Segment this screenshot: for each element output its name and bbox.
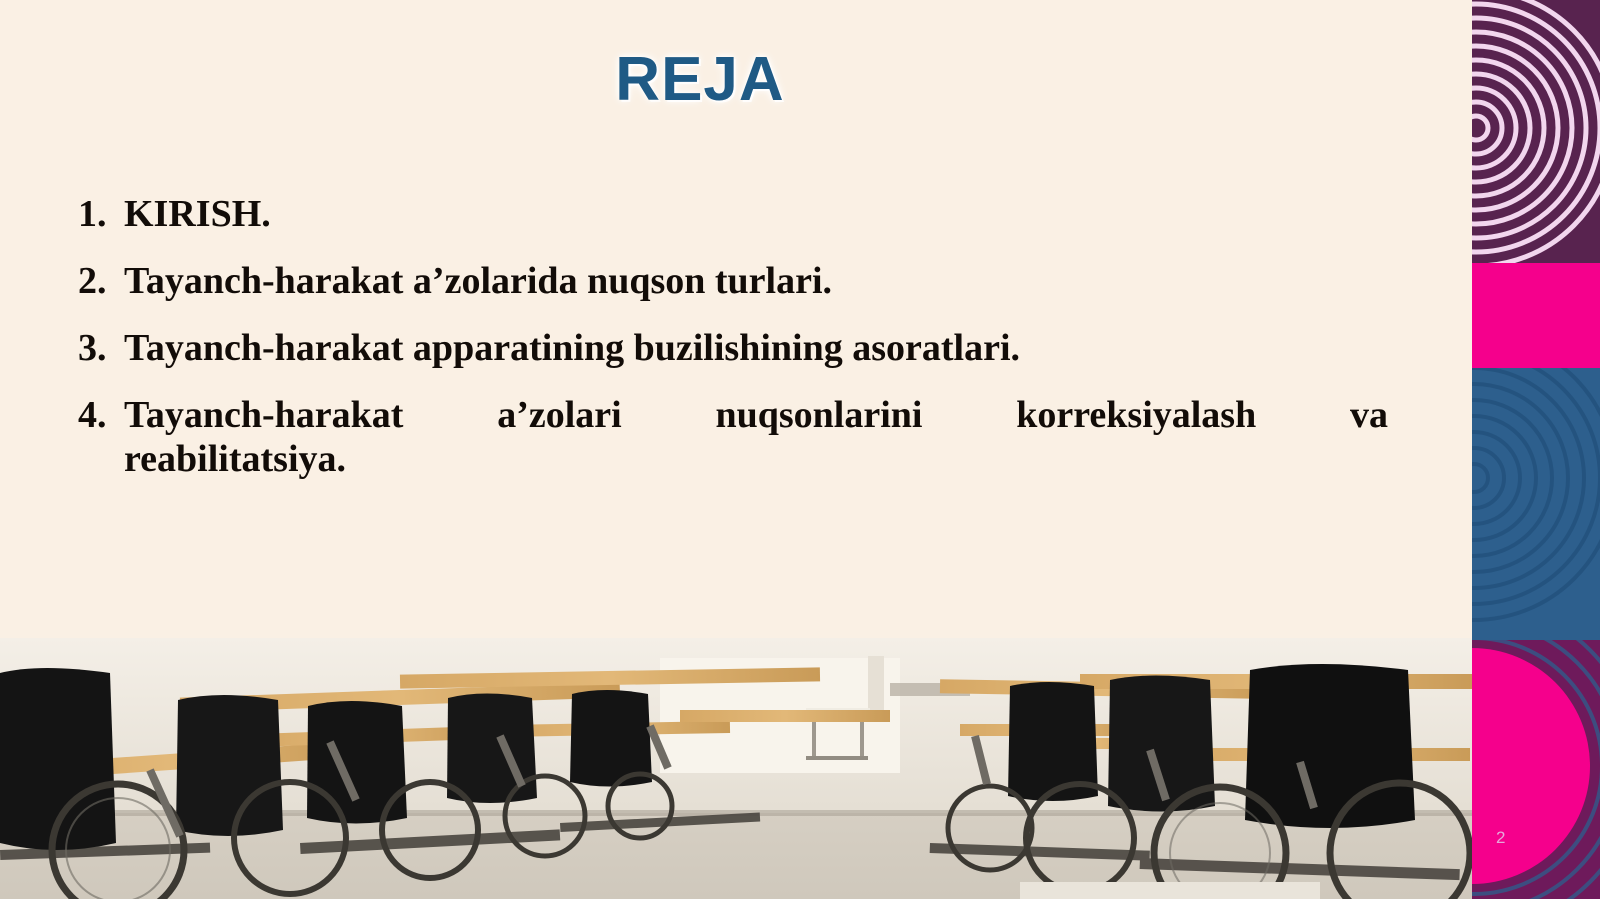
list-item: 2. Tayanch-harakat a’zolarida nuqson tur… [78, 259, 1388, 303]
list-item-number: 2. [78, 259, 124, 303]
page-number: 2 [1496, 828, 1505, 848]
classroom-photo [0, 638, 1472, 899]
faint-concentric-rings-icon [1472, 368, 1600, 620]
list-item: 3. Tayanch-harakat apparatining buzilish… [78, 326, 1388, 370]
page-title: REJA [0, 44, 1400, 115]
list-item: 1. KIRISH. [78, 192, 1388, 236]
list-item-number: 1. [78, 192, 124, 236]
plan-list: 1. KIRISH. 2. Tayanch-harakat a’zolarida… [78, 192, 1388, 504]
list-item-text: KIRISH. [124, 192, 1388, 236]
sidebar-panel-purple-top [1472, 0, 1600, 263]
concentric-rings-icon [1472, 0, 1600, 263]
list-item-text-line-2: reabilitatsiya. [124, 437, 1388, 481]
list-item-text: Tayanch-harakat a’zolarida nuqson turlar… [124, 259, 1388, 303]
list-item-text: Tayanch-harakat a’zolari nuqsonlarini ko… [124, 393, 1388, 481]
list-item-number: 3. [78, 326, 124, 370]
list-item-number: 4. [78, 393, 124, 437]
list-item-text-line-1: Tayanch-harakat a’zolari nuqsonlarini ko… [124, 393, 1388, 437]
sidebar-panel-purple-bottom [1472, 640, 1600, 899]
list-item-text: Tayanch-harakat apparatining buzilishini… [124, 326, 1388, 370]
slide-content-area: REJA 1. KIRISH. 2. Tayanch-harakat a’zol… [0, 0, 1472, 899]
presentation-slide: REJA 1. KIRISH. 2. Tayanch-harakat a’zol… [0, 0, 1600, 899]
list-item: 4. Tayanch-harakat a’zolari nuqsonlarini… [78, 393, 1388, 481]
sidebar-panel-magenta [1472, 263, 1600, 368]
sidebar-panel-blue [1472, 368, 1600, 640]
decorative-sidebar [1472, 0, 1600, 899]
